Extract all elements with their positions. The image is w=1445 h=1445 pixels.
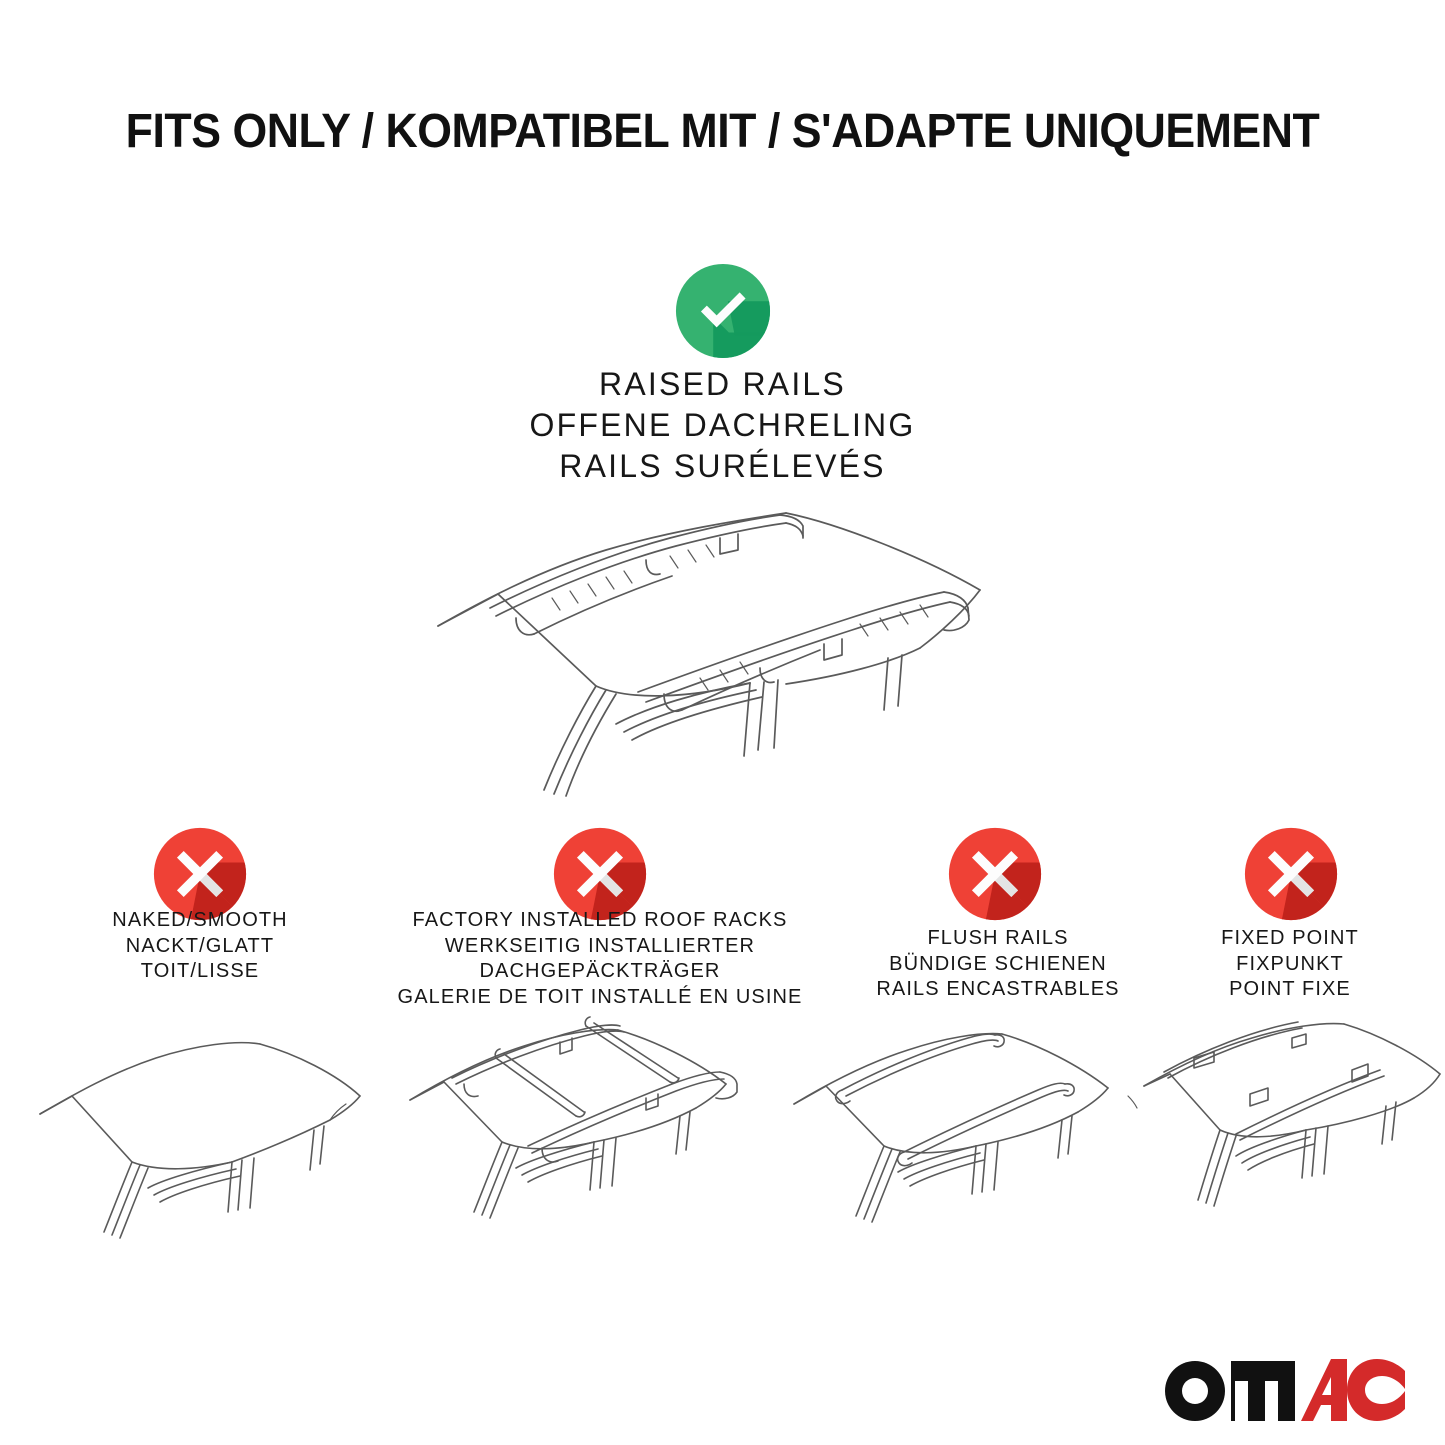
fitment-infographic: FITS ONLY / KOMPATIBEL MIT / S'ADAPTE UN… (0, 0, 1445, 1445)
compatible-label-en: RAISED RAILS (0, 364, 1445, 405)
flush-rails-caption: FLUSH RAILS BÜNDIGE SCHIENEN RAILS ENCAS… (830, 926, 1166, 1003)
car-roof-factory-racks-illustration (400, 1012, 760, 1272)
fixed-point-label-de: FIXPUNKT (1140, 952, 1440, 978)
car-roof-raised-rails-illustration (420, 498, 1000, 798)
flush-rails-label-fr: RAILS ENCASTRABLES (830, 977, 1166, 1003)
omac-logo (1161, 1347, 1407, 1429)
factory-racks-label-en: FACTORY INSTALLED ROOF RACKS (368, 908, 832, 934)
car-roof-fixed-point-illustration (1140, 1012, 1442, 1272)
factory-racks-caption: FACTORY INSTALLED ROOF RACKS WERKSEITIG … (368, 908, 832, 1010)
cross-circle-icon (1243, 826, 1339, 922)
car-roof-flush-rails-illustration (780, 1012, 1140, 1272)
compatible-caption: RAISED RAILS OFFENE DACHRELING RAILS SUR… (0, 364, 1445, 487)
fixed-point-label-fr: POINT FIXE (1140, 977, 1440, 1003)
fixed-point-caption: FIXED POINT FIXPUNKT POINT FIXE (1140, 926, 1440, 1003)
naked-smooth-label-de: NACKT/GLATT (20, 934, 380, 960)
factory-racks-label-de: WERKSEITIG INSTALLIERTER (368, 934, 832, 960)
compatible-label-fr: RAILS SURÉLEVÉS (0, 446, 1445, 487)
flush-rails-label-en: FLUSH RAILS (830, 926, 1166, 952)
car-roof-naked-illustration (28, 1022, 380, 1272)
cross-circle-icon (947, 826, 1043, 922)
fixed-point-label-en: FIXED POINT (1140, 926, 1440, 952)
check-circle-icon (674, 262, 772, 360)
naked-smooth-label-fr: TOIT/LISSE (20, 959, 380, 985)
page-title: FITS ONLY / KOMPATIBEL MIT / S'ADAPTE UN… (51, 104, 1395, 159)
flush-rails-label-de: BÜNDIGE SCHIENEN (830, 952, 1166, 978)
compatible-label-de: OFFENE DACHRELING (0, 405, 1445, 446)
factory-racks-label-de2: DACHGEPÄCKTRÄGER (368, 959, 832, 985)
naked-smooth-caption: NAKED/SMOOTH NACKT/GLATT TOIT/LISSE (20, 908, 380, 985)
naked-smooth-label-en: NAKED/SMOOTH (20, 908, 380, 934)
factory-racks-label-fr: GALERIE DE TOIT INSTALLÉ EN USINE (368, 985, 832, 1011)
